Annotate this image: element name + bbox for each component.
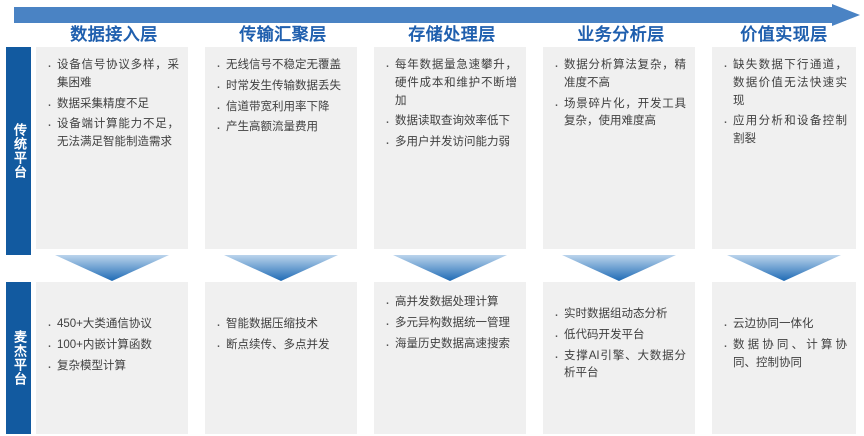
list-item: 智能数据压缩技术 [214,316,348,334]
card-maijie-data-access: 450+大类通信协议 100+内嵌计算函数 复杂模型计算 [36,282,188,434]
bullet-list: 450+大类通信协议 100+内嵌计算函数 复杂模型计算 [45,316,179,375]
rail-maijie-platform: 麦杰平台 [6,282,31,434]
card-legacy-storage-processing: 每年数据量急速攀升，硬件成本和维护不断增加 数据读取查询效率低下 多用户并发访问… [374,47,526,249]
list-item: 多用户并发访问能力弱 [383,134,517,152]
down-arrow-business-analysis [562,255,676,281]
list-item: 设备端计算能力不足，无法满足智能制造需求 [45,116,179,152]
bullet-list: 每年数据量急速攀升，硬件成本和维护不断增加 数据读取查询效率低下 多用户并发访问… [383,57,517,152]
list-item: 数据分析算法复杂，精准度不高 [552,57,686,93]
list-item: 高并发数据处理计算 [383,294,517,312]
card-maijie-value-realization: 云边协同一体化 数据协同、计算协同、控制协同 [712,282,856,434]
card-maijie-transmission-aggregation: 智能数据压缩技术 断点续传、多点并发 [205,282,357,434]
down-arrow-storage-processing [393,255,507,281]
list-item: 时常发生传输数据丢失 [214,78,348,96]
rail-legacy-platform-label: 传统平台 [11,123,26,179]
bullet-list: 数据分析算法复杂，精准度不高 场景碎片化，开发工具复杂，使用难度高 [552,57,686,131]
bullet-list: 设备信号协议多样，采集困难 数据采集精度不足 设备端计算能力不足，无法满足智能制… [45,57,179,152]
list-item: 支撑AI引擎、大数据分析平台 [552,348,686,384]
list-item: 信道带宽利用率下降 [214,99,348,117]
list-item: 场景碎片化，开发工具复杂，使用难度高 [552,96,686,132]
card-maijie-storage-processing: 高并发数据处理计算 多元异构数据统一管理 海量历史数据高速搜索 [374,282,526,434]
comparison-diagram: 数据接入层 传输汇聚层 存储处理层 业务分析层 价值实现层 传统平台 麦杰平台 … [0,0,864,436]
down-arrow-transmission-aggregation [224,255,338,281]
list-item: 缺失数据下行通道，数据价值无法快速实现 [721,57,847,110]
column-title-value-realization: 价值实现层 [704,22,864,48]
list-item: 数据协同、计算协同、控制协同 [721,337,847,373]
rail-legacy-platform: 传统平台 [6,47,31,255]
list-item: 云边协同一体化 [721,316,847,334]
bullet-list: 实时数据组动态分析 低代码开发平台 支撑AI引擎、大数据分析平台 [552,306,686,383]
list-item: 数据读取查询效率低下 [383,113,517,131]
list-item: 断点续传、多点并发 [214,337,348,355]
down-arrow-value-realization [727,255,841,281]
rail-maijie-platform-label: 麦杰平台 [11,330,26,386]
list-item: 450+大类通信协议 [45,316,179,334]
column-title-storage-processing: 存储处理层 [372,22,532,48]
down-arrow-data-access [55,255,169,281]
list-item: 实时数据组动态分析 [552,306,686,324]
list-item: 复杂模型计算 [45,358,179,376]
list-item: 无线信号不稳定无覆盖 [214,57,348,75]
list-item: 100+内嵌计算函数 [45,337,179,355]
card-legacy-value-realization: 缺失数据下行通道，数据价值无法快速实现 应用分析和设备控制割裂 [712,47,856,249]
bullet-list: 智能数据压缩技术 断点续传、多点并发 [214,316,348,355]
list-item: 多元异构数据统一管理 [383,315,517,333]
list-item: 应用分析和设备控制割裂 [721,113,847,149]
column-title-business-analysis: 业务分析层 [541,22,701,48]
bullet-list: 无线信号不稳定无覆盖 时常发生传输数据丢失 信道带宽利用率下降 产生高额流量费用 [214,57,348,137]
list-item: 每年数据量急速攀升，硬件成本和维护不断增加 [383,57,517,110]
list-item: 产生高额流量费用 [214,119,348,137]
card-legacy-data-access: 设备信号协议多样，采集困难 数据采集精度不足 设备端计算能力不足，无法满足智能制… [36,47,188,249]
bullet-list: 高并发数据处理计算 多元异构数据统一管理 海量历史数据高速搜索 [383,294,517,353]
column-title-transmission-aggregation: 传输汇聚层 [203,22,363,48]
bullet-list: 云边协同一体化 数据协同、计算协同、控制协同 [721,316,847,372]
list-item: 海量历史数据高速搜索 [383,336,517,354]
list-item: 数据采集精度不足 [45,96,179,114]
card-legacy-business-analysis: 数据分析算法复杂，精准度不高 场景碎片化，开发工具复杂，使用难度高 [543,47,695,249]
list-item: 设备信号协议多样，采集困难 [45,57,179,93]
list-item: 低代码开发平台 [552,327,686,345]
column-title-data-access: 数据接入层 [34,22,194,48]
card-maijie-business-analysis: 实时数据组动态分析 低代码开发平台 支撑AI引擎、大数据分析平台 [543,282,695,434]
card-legacy-transmission-aggregation: 无线信号不稳定无覆盖 时常发生传输数据丢失 信道带宽利用率下降 产生高额流量费用 [205,47,357,249]
bullet-list: 缺失数据下行通道，数据价值无法快速实现 应用分析和设备控制割裂 [721,57,847,149]
